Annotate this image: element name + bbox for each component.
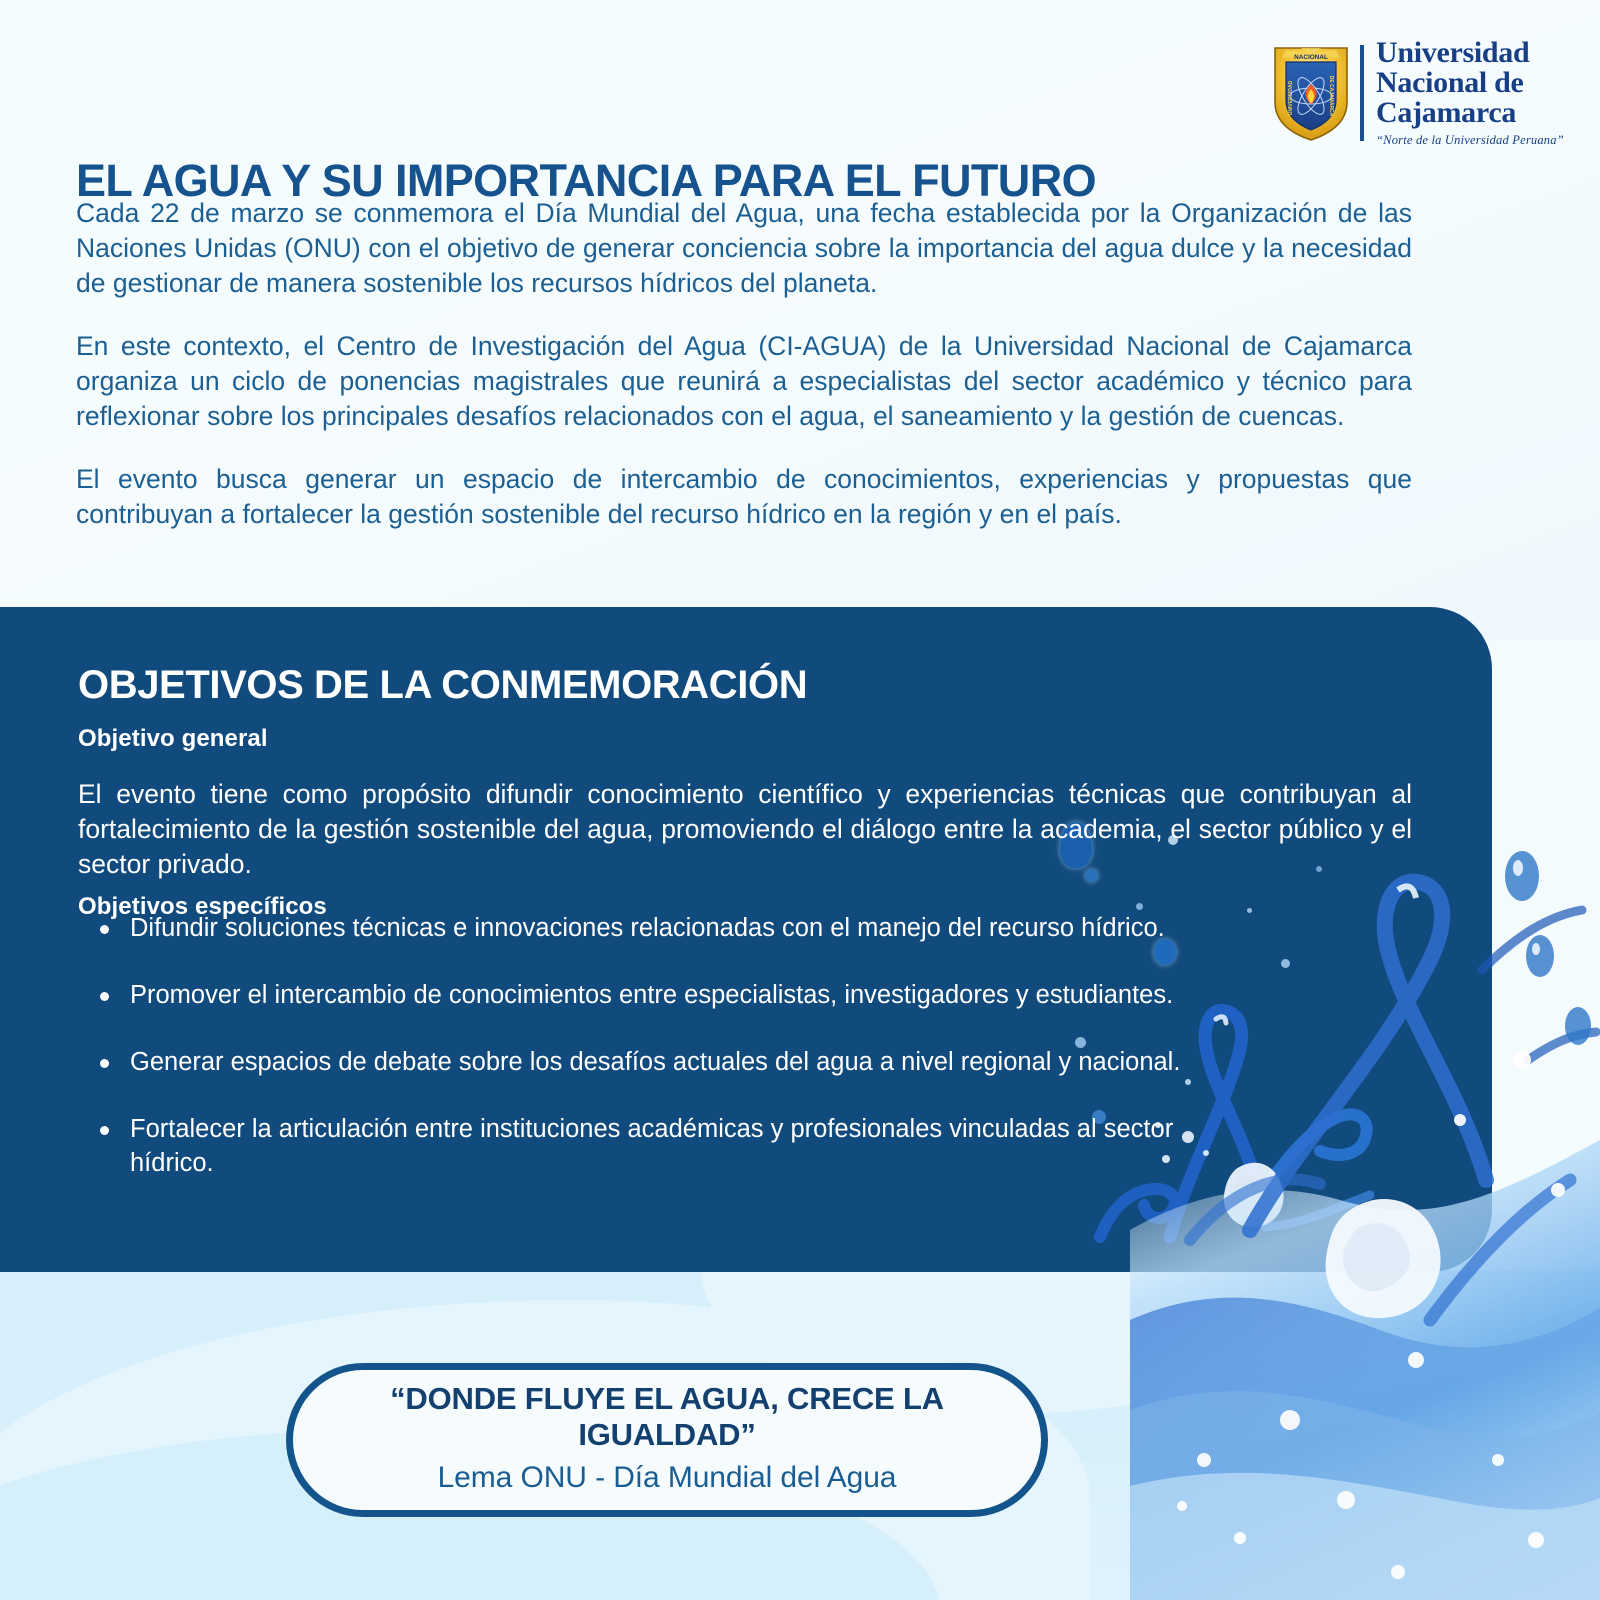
slogan-attribution: Lema ONU - Día Mundial del Agua xyxy=(438,1461,897,1495)
list-item: Fortalecer la articulación entre institu… xyxy=(78,1113,1198,1181)
specific-objectives-list: Difundir soluciones técnicas e innovacio… xyxy=(78,912,1198,1181)
unc-crest-icon: NACIONAL UNIVERSIDAD DE CAJAMARCA xyxy=(1272,44,1350,142)
general-objective-text: El evento tiene como propósito difundir … xyxy=(78,777,1412,883)
objectives-panel: OBJETIVOS DE LA CONMEMORACIÓN Objetivo g… xyxy=(0,607,1492,1272)
list-item: Difundir soluciones técnicas e innovacio… xyxy=(78,912,1198,946)
poster-page: NACIONAL UNIVERSIDAD DE CAJAMARCA Univer… xyxy=(0,0,1600,1600)
intro-article: Cada 22 de marzo se conmemora el Día Mun… xyxy=(76,196,1412,532)
logo-line-1: Universidad xyxy=(1376,38,1564,68)
university-logo: NACIONAL UNIVERSIDAD DE CAJAMARCA Univer… xyxy=(1272,38,1572,148)
logo-line-2: Nacional de xyxy=(1376,68,1564,98)
intro-paragraph-2: En este contexto, el Centro de Investiga… xyxy=(76,329,1412,434)
slogan-text: “DONDE FLUYE EL AGUA, CRECE LA IGUALDAD” xyxy=(339,1381,995,1453)
slogan-box: “DONDE FLUYE EL AGUA, CRECE LA IGUALDAD”… xyxy=(286,1363,1048,1517)
logo-line-3: Cajamarca xyxy=(1376,98,1564,128)
general-objective-heading: Objetivo general xyxy=(78,725,268,753)
crest-right-label: DE CAJAMARCA xyxy=(1328,76,1334,117)
objectives-title: OBJETIVOS DE LA CONMEMORACIÓN xyxy=(78,663,807,708)
intro-paragraph-1: Cada 22 de marzo se conmemora el Día Mun… xyxy=(76,196,1412,301)
university-wordmark: Universidad Nacional de Cajamarca “Norte… xyxy=(1360,45,1564,141)
logo-motto: “Norte de la Universidad Peruana” xyxy=(1376,133,1564,148)
crest-left-label: UNIVERSIDAD xyxy=(1288,80,1294,115)
crest-top-label: NACIONAL xyxy=(1294,54,1328,61)
list-item: Generar espacios de debate sobre los des… xyxy=(78,1046,1198,1080)
intro-paragraph-3: El evento busca generar un espacio de in… xyxy=(76,462,1412,532)
list-item: Promover el intercambio de conocimientos… xyxy=(78,979,1198,1013)
